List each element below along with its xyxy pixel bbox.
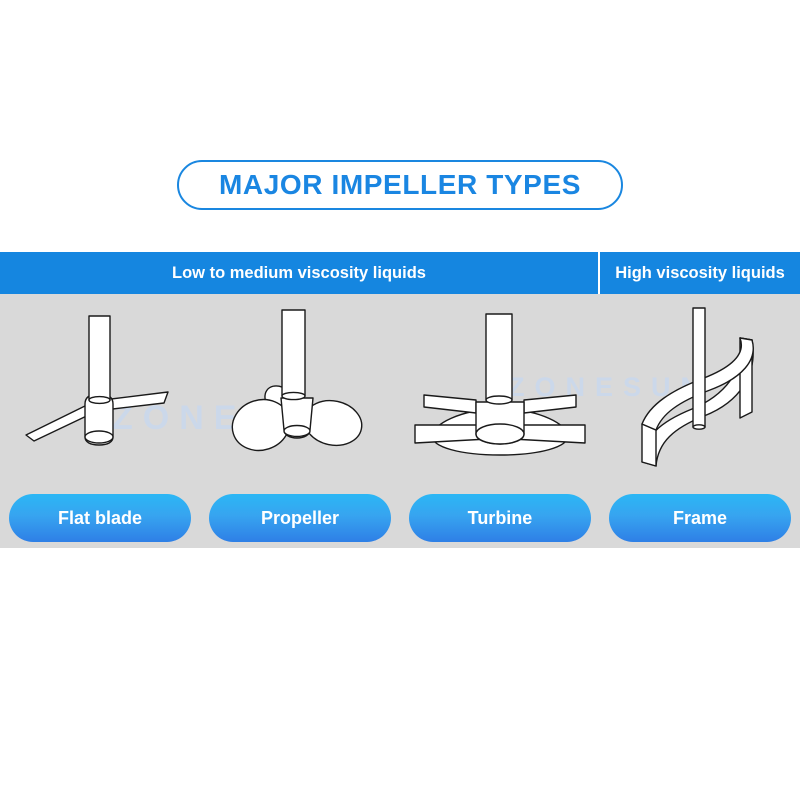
label-pill-flat-blade[interactable]: Flat blade	[9, 494, 191, 542]
label-text-turbine: Turbine	[468, 508, 533, 529]
header-cell-high-viscosity: High viscosity liquids	[600, 252, 800, 294]
impeller-labels-row: Flat blade Propeller Turbine Frame	[0, 494, 800, 542]
label-text-flat-blade: Flat blade	[58, 508, 142, 529]
impeller-cell-propeller	[200, 294, 400, 494]
header-label-high-viscosity: High viscosity liquids	[615, 264, 785, 283]
turbine-impeller-icon	[400, 294, 600, 494]
impeller-cell-flat-blade	[0, 294, 200, 494]
label-pill-turbine[interactable]: Turbine	[409, 494, 591, 542]
flat-blade-impeller-icon	[0, 294, 200, 494]
label-text-propeller: Propeller	[261, 508, 339, 529]
header-cell-low-medium-viscosity: Low to medium viscosity liquids	[0, 252, 600, 294]
page-title-pill: MAJOR IMPELLER TYPES	[177, 160, 623, 210]
impeller-cell-turbine	[400, 294, 600, 494]
propeller-impeller-icon	[200, 294, 400, 494]
label-slot-frame: Frame	[600, 494, 800, 542]
label-text-frame: Frame	[673, 508, 727, 529]
frame-impeller-icon	[600, 294, 800, 494]
label-pill-propeller[interactable]: Propeller	[209, 494, 391, 542]
impeller-cell-frame	[600, 294, 800, 494]
header-label-low-medium-viscosity: Low to medium viscosity liquids	[172, 264, 426, 283]
label-slot-flat-blade: Flat blade	[0, 494, 200, 542]
viscosity-header-band: Low to medium viscosity liquids High vis…	[0, 252, 800, 294]
label-slot-propeller: Propeller	[200, 494, 400, 542]
label-pill-frame[interactable]: Frame	[609, 494, 791, 542]
impeller-types-infographic: MAJOR IMPELLER TYPES Low to medium visco…	[0, 0, 800, 800]
impeller-row	[0, 294, 800, 494]
page-title: MAJOR IMPELLER TYPES	[219, 171, 581, 199]
label-slot-turbine: Turbine	[400, 494, 600, 542]
